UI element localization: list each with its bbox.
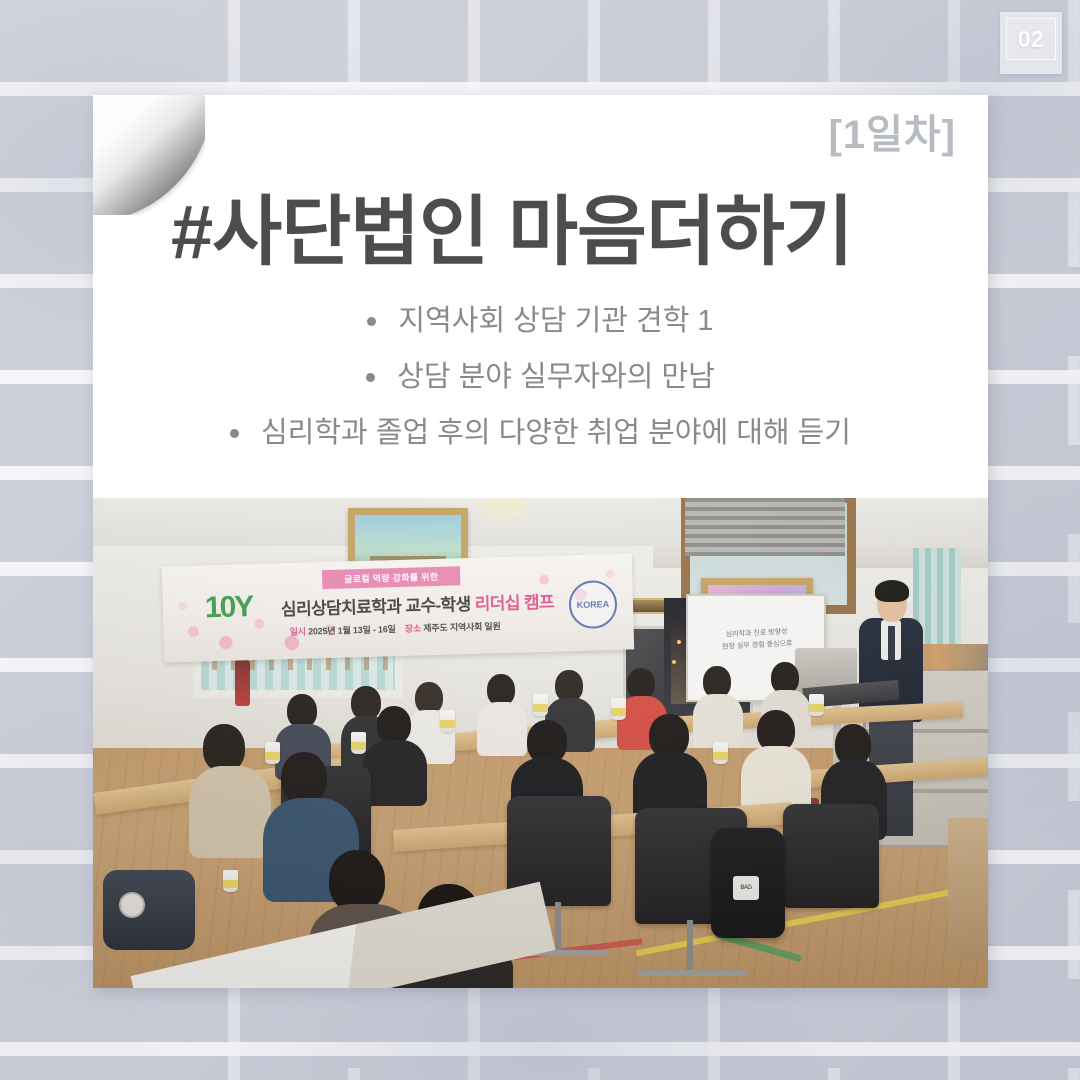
bullet-list: 지역사회 상담 기관 견학 1 상담 분야 실무자와의 만남 심리학과 졸업 후…	[133, 300, 948, 468]
photo-event-banner: 10Y 글로컬 역량 강화를 위한 심리상담치료학과 교수-학생 리더십 캠프 …	[162, 553, 634, 662]
slide-canvas: 02 [1일차] #사단법인 마음더하기 지역사회 상담 기관 견학 1 상담 …	[0, 0, 1080, 1080]
photo-backpack-label: BAG	[733, 876, 759, 900]
page-number-badge: 02	[1000, 12, 1062, 74]
photo-paper-cup	[713, 742, 728, 764]
page-number-frame: 02	[1006, 18, 1056, 60]
photo-presenter-hair	[875, 580, 909, 602]
page-number-text: 02	[1018, 28, 1045, 51]
photo-paper-cup	[611, 698, 626, 720]
bullet-dot-icon	[366, 373, 375, 382]
list-item: 상담 분야 실무자와의 만남	[133, 356, 948, 398]
photo-paper-cup	[223, 870, 238, 892]
photo-paper-cup	[351, 732, 366, 754]
photo-chair-base	[637, 970, 747, 976]
banner-university-logo: 10Y	[205, 592, 253, 623]
photo-paper-cup	[265, 742, 280, 764]
photo-paper-cup	[809, 694, 824, 716]
photo-shoulder-bag	[103, 870, 195, 950]
photo-fire-extinguisher	[235, 660, 250, 706]
list-item-label: 심리학과 졸업 후의 다양한 취업 분야에 대해 듣기	[261, 412, 851, 454]
page-title: #사단법인 마음더하기	[171, 192, 948, 274]
photo-cabinet	[948, 818, 988, 958]
photo-window-blind	[685, 498, 845, 556]
photo-presenter-tie	[888, 626, 895, 660]
banner-title-accent: 리더십 캠프	[474, 593, 554, 614]
bullet-dot-icon	[230, 429, 239, 438]
photo-paper-cup	[533, 694, 548, 716]
list-item: 심리학과 졸업 후의 다양한 취업 분야에 대해 듣기	[133, 412, 948, 454]
list-item-label: 상담 분야 실무자와의 만남	[397, 356, 715, 398]
list-item-label: 지역사회 상담 기관 견학 1	[398, 300, 713, 342]
photo-chair-stem	[687, 920, 693, 974]
banner-date-value: 2025년 1월 13일 - 16일	[308, 624, 396, 636]
banner-place-label: 장소	[405, 623, 421, 633]
content-card: [1일차] #사단법인 마음더하기 지역사회 상담 기관 견학 1 상담 분야 …	[93, 95, 988, 988]
event-photo: 10Y 글로컬 역량 강화를 위한 심리상담치료학과 교수-학생 리더십 캠프 …	[93, 498, 988, 988]
photo-office-chair	[783, 804, 879, 908]
day-label: [1일차]	[829, 115, 957, 155]
photo-paper-cup	[440, 710, 455, 732]
banner-place-value: 제주도 지역사회 일원	[423, 621, 501, 633]
bullet-dot-icon	[367, 317, 376, 326]
photo-bag-patch	[119, 892, 145, 918]
banner-date-label: 일시	[289, 627, 305, 637]
photo-ceiling-light	[488, 500, 522, 511]
banner-kicker-text: 글로컬 역량 강화를 위한	[322, 566, 461, 589]
banner-title-main: 심리상담치료학과 교수-학생	[281, 595, 475, 619]
photo-chair-stem	[555, 902, 561, 954]
list-item: 지역사회 상담 기관 견학 1	[133, 300, 948, 342]
card-header: [1일차] #사단법인 마음더하기 지역사회 상담 기관 견학 1 상담 분야 …	[93, 95, 988, 498]
